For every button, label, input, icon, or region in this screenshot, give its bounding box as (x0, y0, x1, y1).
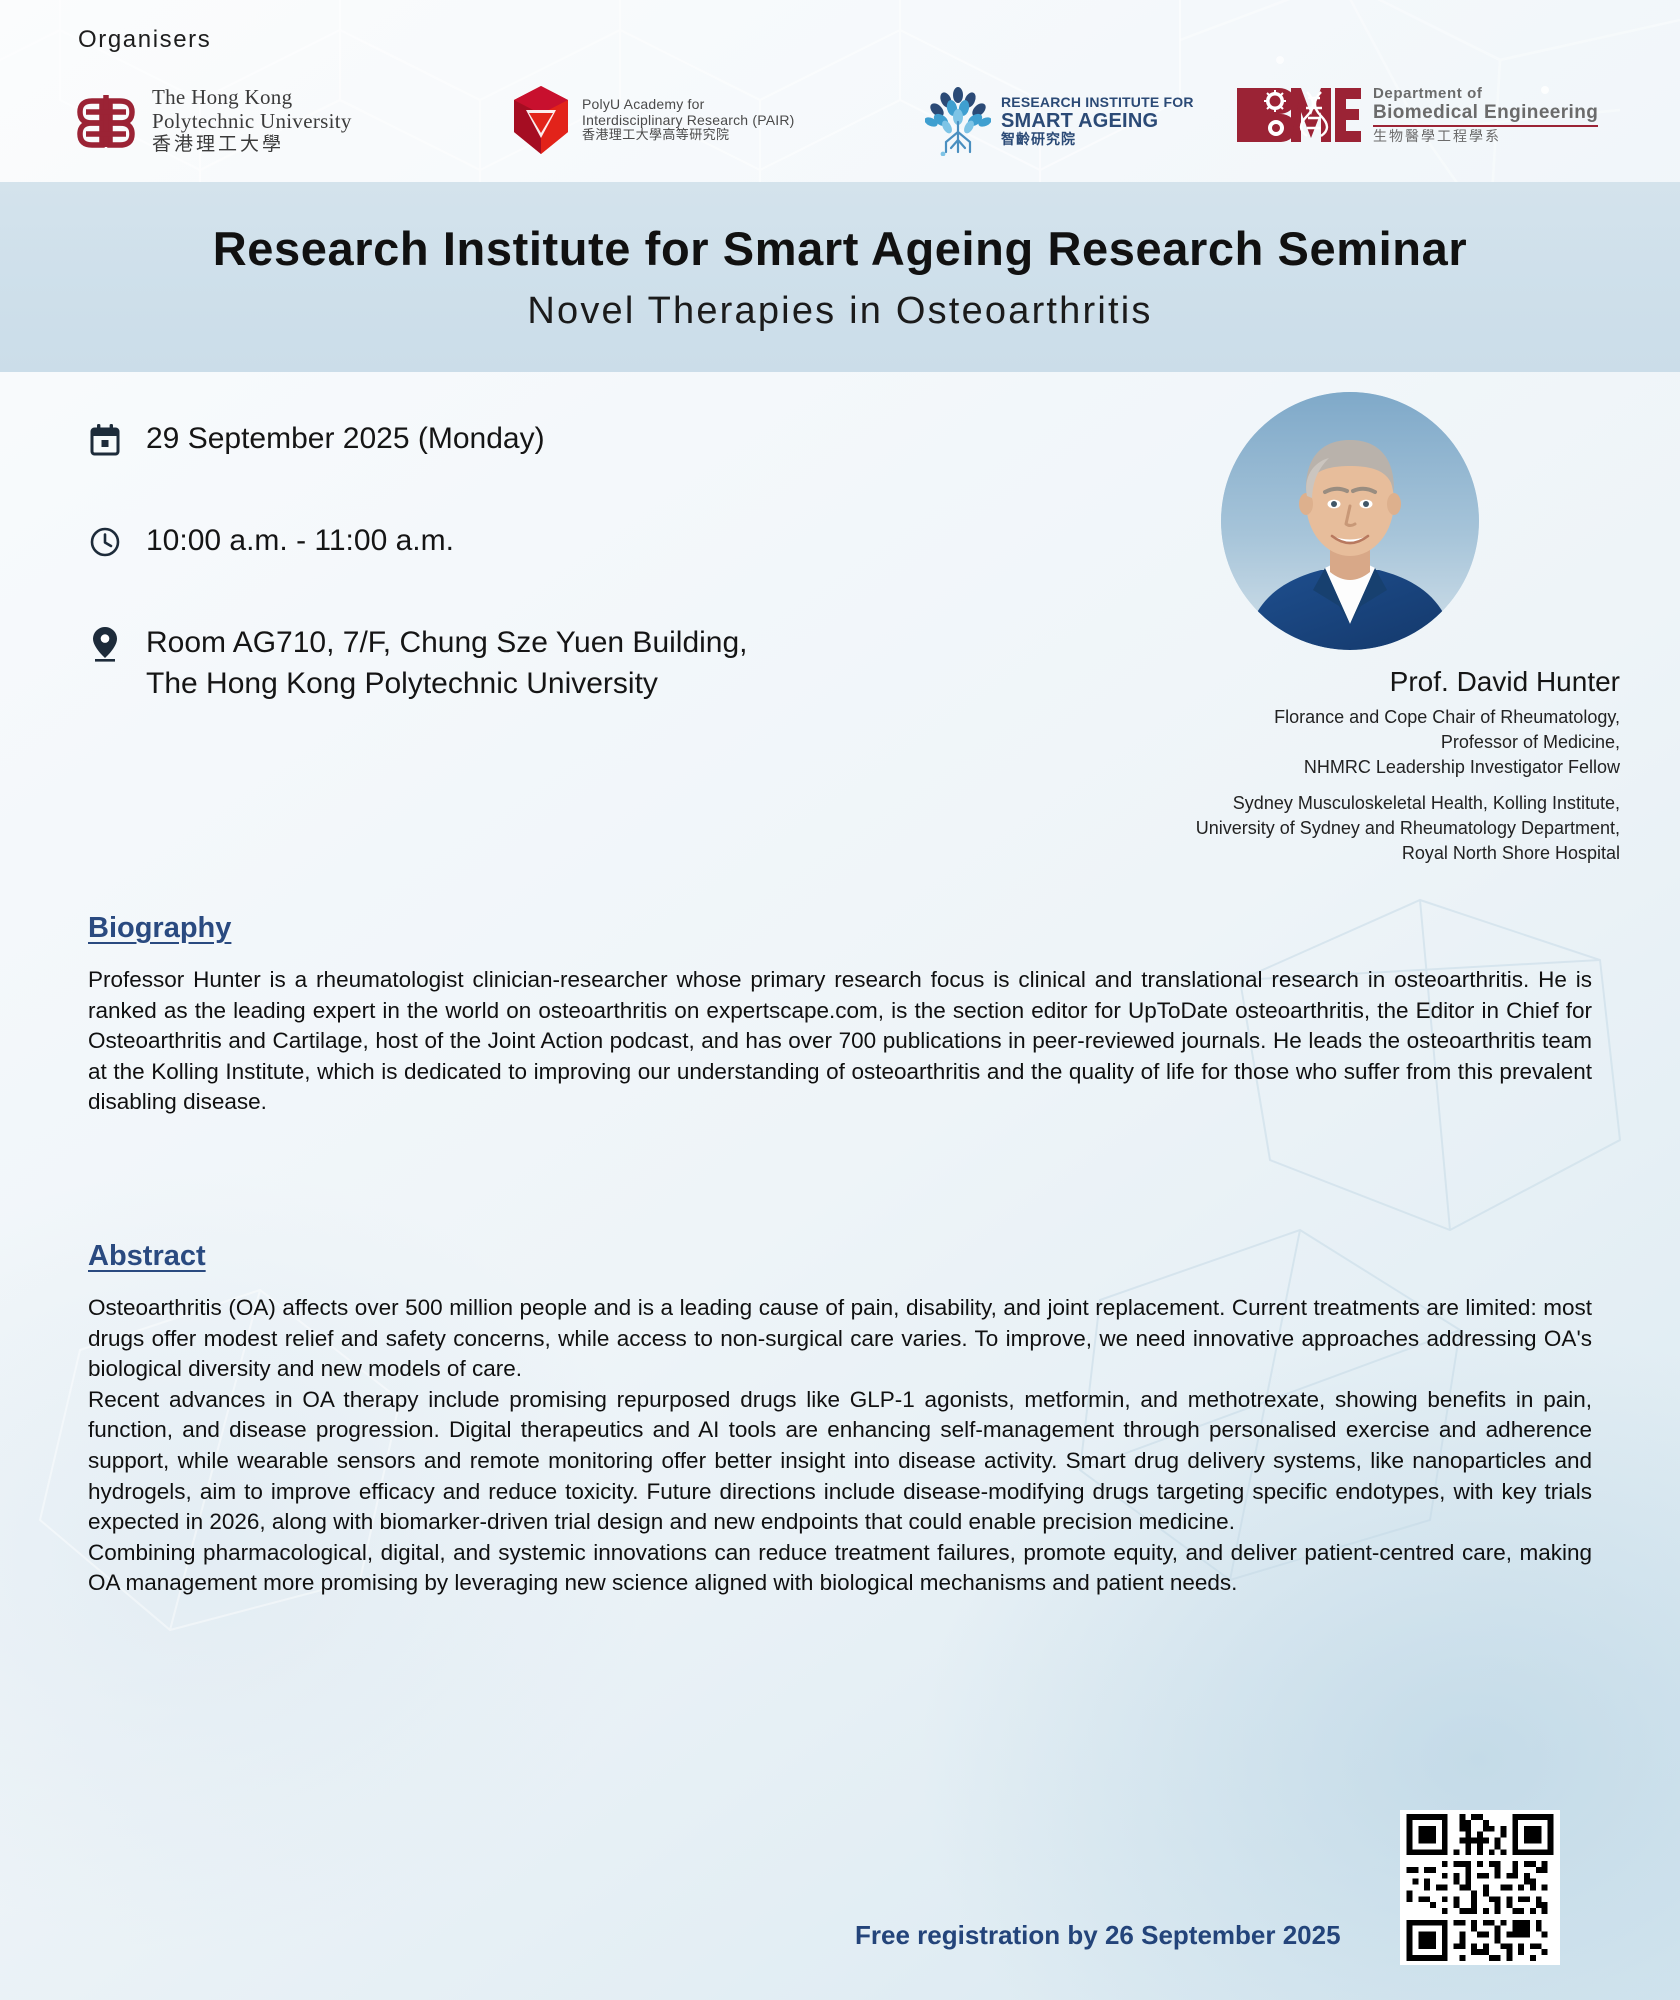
bme-monogram-icon (1235, 84, 1363, 146)
biography-section: Biography Professor Hunter is a rheumato… (88, 912, 1592, 1118)
organisers-label: Organisers (78, 26, 211, 54)
speaker-affiliation-3: Royal North Shore Hospital (1080, 841, 1620, 866)
speaker-title-2: Professor of Medicine, (1080, 730, 1620, 755)
polyu-line1: The Hong Kong (152, 86, 352, 110)
seminar-poster: Organisers The Hong Kong (0, 0, 1680, 2000)
risa-chinese: 智齡研究院 (1001, 132, 1194, 148)
calendar-icon (88, 418, 122, 462)
abstract-paragraph-3: Combining pharmacological, digital, and … (88, 1538, 1592, 1599)
logo-research-institute-for-smart-ageing: RESEARCH INSTITUTE FOR SMART AGEING 智齡研究… (925, 86, 1194, 156)
biography-paragraph: Professor Hunter is a rheumatologist cli… (88, 965, 1592, 1118)
abstract-paragraph-2: Recent advances in OA therapy include pr… (88, 1385, 1592, 1538)
logo-polyu-academy-interdisciplinary-research: PolyU Academy for Interdisciplinary Rese… (510, 84, 795, 156)
risa-line1: RESEARCH INSTITUTE FOR (1001, 95, 1194, 111)
seminar-subtitle: Novel Therapies in Osteoarthritis (527, 290, 1152, 333)
logo-hong-kong-polytechnic-university: The Hong Kong Polytechnic University 香港理… (70, 86, 352, 155)
speaker-title-1: Florance and Cope Chair of Rheumatology, (1080, 705, 1620, 730)
polyu-chinese: 香港理工大學 (152, 134, 352, 155)
speaker-affiliation-1: Sydney Musculoskeletal Health, Kolling I… (1080, 791, 1620, 816)
location-pin-icon (88, 622, 122, 666)
bme-divider (1373, 125, 1598, 127)
pair-chinese: 香港理工大學高等研究院 (582, 128, 795, 143)
bme-line1: Department of (1373, 86, 1598, 103)
logo-department-of-biomedical-engineering: Department of Biomedical Engineering 生物醫… (1235, 84, 1598, 146)
abstract-text: Osteoarthritis (OA) affects over 500 mil… (88, 1293, 1592, 1599)
event-venue-text: Room AG710, 7/F, Chung Sze Yuen Building… (146, 622, 748, 705)
event-date-row: 29 September 2025 (Monday) (88, 418, 968, 462)
speaker-affiliation-2: University of Sydney and Rheumatology De… (1080, 816, 1620, 841)
abstract-heading: Abstract (88, 1240, 1592, 1273)
event-date-text: 29 September 2025 (Monday) (146, 418, 545, 459)
abstract-section: Abstract Osteoarthritis (OA) affects ove… (88, 1240, 1592, 1599)
registration-notice: Free registration by 26 September 2025 (855, 1920, 1341, 1951)
speaker-name: Prof. David Hunter (1080, 666, 1620, 698)
qr-code[interactable] (1400, 1810, 1560, 1965)
bme-line2: Biomedical Engineering (1373, 103, 1598, 123)
speaker-block: Prof. David Hunter Florance and Cope Cha… (1080, 392, 1620, 866)
clock-icon (88, 520, 122, 564)
risa-line2: SMART AGEING (1001, 111, 1194, 132)
event-time-text: 10:00 a.m. - 11:00 a.m. (146, 520, 454, 561)
organiser-logo-row: The Hong Kong Polytechnic University 香港理… (70, 80, 1600, 158)
organisers-band: Organisers The Hong Kong (0, 0, 1680, 182)
biography-text: Professor Hunter is a rheumatologist cli… (88, 965, 1592, 1118)
event-details: 29 September 2025 (Monday) 10:00 a.m. - … (88, 418, 968, 763)
venue-line-2: The Hong Kong Polytechnic University (146, 667, 658, 700)
bme-chinese: 生物醫學工程學系 (1373, 129, 1598, 145)
pair-line1: PolyU Academy for (582, 97, 795, 113)
speaker-spacer (1080, 779, 1620, 791)
venue-line-1: Room AG710, 7/F, Chung Sze Yuen Building… (146, 626, 748, 659)
abstract-paragraph-1: Osteoarthritis (OA) affects over 500 mil… (88, 1293, 1592, 1385)
polyu-line2: Polytechnic University (152, 110, 352, 134)
title-banner: Research Institute for Smart Ageing Rese… (0, 182, 1680, 372)
event-venue-row: Room AG710, 7/F, Chung Sze Yuen Building… (88, 622, 968, 705)
event-time-row: 10:00 a.m. - 11:00 a.m. (88, 520, 968, 564)
pair-line2: Interdisciplinary Research (PAIR) (582, 113, 795, 129)
biography-heading: Biography (88, 912, 1592, 945)
pair-cube-icon (510, 84, 572, 156)
smart-ageing-tree-icon (925, 86, 991, 156)
polyu-knot-icon (70, 87, 142, 155)
speaker-title-3: NHMRC Leadership Investigator Fellow (1080, 755, 1620, 780)
speaker-portrait-avatar (1221, 392, 1479, 650)
speaker-photo-wrapper (1080, 392, 1620, 650)
seminar-title: Research Institute for Smart Ageing Rese… (213, 221, 1467, 276)
qr-code-image[interactable] (1404, 1814, 1556, 1961)
